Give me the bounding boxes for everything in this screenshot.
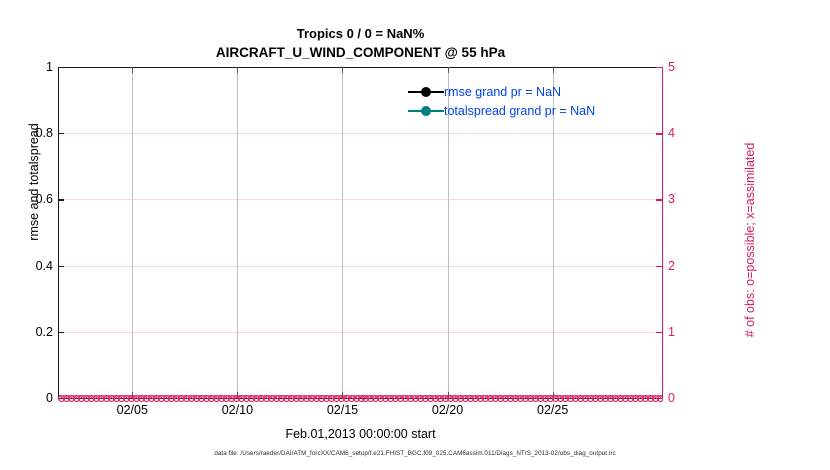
x-axis-tick-label: 02/15 (307, 403, 377, 417)
y-axis-left-tick (58, 266, 64, 267)
chart-title: Tropics 0 / 0 = NaN% (58, 24, 663, 43)
legend-label-rmse: rmse grand pr = NaN (444, 85, 561, 99)
y-axis-right-tick-label: 2 (668, 259, 675, 273)
axis-top-spine (58, 67, 663, 68)
gridline-horizontal (58, 332, 663, 333)
legend-label-totalspread: totalspread grand pr = NaN (444, 104, 595, 118)
x-axis-tick-top (448, 67, 449, 73)
gridline-vertical (342, 67, 343, 398)
gridline-horizontal (58, 133, 663, 134)
y-axis-right-tick (656, 133, 662, 134)
x-axis-tick-label: 02/20 (413, 403, 483, 417)
figure-canvas: Tropics 0 / 0 = NaN% AIRCRAFT_U_WIND_COM… (0, 0, 830, 470)
y-axis-left-tick (58, 199, 64, 200)
x-axis-title: Feb.01,2013 00:00:00 start (58, 427, 663, 441)
y-axis-right-title: # of obs: o=possible; x=assimilated (743, 75, 757, 405)
chart-legend: rmse grand pr = NaN totalspread grand pr… (408, 82, 654, 120)
obs-assimilated-marker: × (656, 394, 663, 403)
x-axis-tick-top (553, 67, 554, 73)
legend-item-rmse[interactable]: rmse grand pr = NaN (408, 82, 654, 101)
y-axis-left-tick (58, 133, 64, 134)
y-axis-right-tick-label: 1 (668, 325, 675, 339)
y-axis-right-tick-label: 3 (668, 192, 675, 206)
gridline-vertical (237, 67, 238, 398)
axis-left-spine (58, 67, 59, 398)
x-axis-tick-label: 02/10 (202, 403, 272, 417)
chart-subtitle: AIRCRAFT_U_WIND_COMPONENT @ 55 hPa (58, 43, 663, 62)
y-axis-right-tick (656, 199, 662, 200)
y-axis-right-tick-label: 0 (668, 391, 675, 405)
legend-item-totalspread[interactable]: totalspread grand pr = NaN (408, 101, 654, 120)
gridline-horizontal (58, 199, 663, 200)
x-axis-tick-top (132, 67, 133, 73)
legend-swatch-rmse-icon (408, 85, 444, 99)
x-axis-tick-label: 02/25 (518, 403, 588, 417)
y-axis-left-tick-label: 0.2 (5, 325, 53, 339)
y-axis-left-tick-label: 0 (5, 391, 53, 405)
observation-marker-band: ××××××××××××××××××××××××××××××××××××××××… (58, 392, 663, 404)
gridline-horizontal (58, 266, 663, 267)
x-axis-tick-top (342, 67, 343, 73)
y-axis-right-tick-label: 4 (668, 126, 675, 140)
axis-right-spine (662, 67, 663, 399)
y-axis-right-tick (656, 332, 662, 333)
y-axis-left-tick (58, 332, 64, 333)
chart-title-block: Tropics 0 / 0 = NaN% AIRCRAFT_U_WIND_COM… (58, 24, 663, 62)
y-axis-right-tick-label: 5 (668, 60, 675, 74)
y-axis-left-tick (58, 67, 64, 68)
y-axis-right-tick (656, 266, 662, 267)
gridline-vertical (132, 67, 133, 398)
legend-swatch-totalspread-icon (408, 104, 444, 118)
y-axis-left-title: rmse and totalspread (27, 62, 41, 302)
data-file-footer: data file: /Users/raeder/DAI/ATM_forcXX/… (0, 450, 830, 457)
x-axis-tick-label: 02/05 (97, 403, 167, 417)
y-axis-right-tick (656, 67, 662, 68)
x-axis-tick-top (237, 67, 238, 73)
